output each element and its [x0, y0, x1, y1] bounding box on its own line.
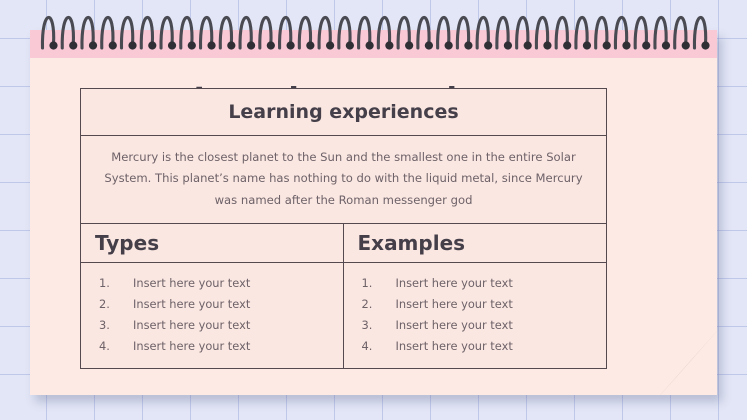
- list-item-text: Insert here your text: [133, 294, 333, 315]
- types-list: 1. Insert here your text 2. Insert here …: [81, 263, 344, 368]
- list-item: 2. Insert here your text: [362, 294, 597, 315]
- list-item-number: 3.: [362, 315, 396, 336]
- list-item: 1. Insert here your text: [99, 273, 333, 294]
- slide-canvas: Learning experiences Learning experience…: [0, 0, 747, 420]
- list-item-text: Insert here your text: [396, 336, 597, 357]
- table-header-label: Learning experiences: [228, 101, 458, 123]
- list-item-text: Insert here your text: [396, 294, 597, 315]
- list-item: 1. Insert here your text: [362, 273, 597, 294]
- list-item-number: 2.: [99, 294, 133, 315]
- examples-list: 1. Insert here your text 2. Insert here …: [344, 263, 607, 368]
- content-table: Learning experiences Mercury is the clos…: [80, 88, 607, 369]
- list-item: 4. Insert here your text: [99, 336, 333, 357]
- list-item-text: Insert here your text: [396, 315, 597, 336]
- column-heading-examples: Examples: [344, 224, 607, 262]
- table-subheading-row: Types Examples: [81, 223, 606, 262]
- table-header-row: Learning experiences: [81, 89, 606, 135]
- list-item-number: 1.: [99, 273, 133, 294]
- pink-header-band: [30, 30, 717, 58]
- column-heading-examples-label: Examples: [358, 231, 466, 255]
- table-list-row: 1. Insert here your text 2. Insert here …: [81, 262, 606, 368]
- list-item-text: Insert here your text: [133, 336, 333, 357]
- column-heading-types: Types: [81, 224, 344, 262]
- list-item: 3. Insert here your text: [362, 315, 597, 336]
- list-item-text: Insert here your text: [133, 273, 333, 294]
- column-heading-types-label: Types: [95, 231, 159, 255]
- list-item-text: Insert here your text: [133, 315, 333, 336]
- table-paragraph-row: Mercury is the closest planet to the Sun…: [81, 135, 606, 223]
- list-item: 4. Insert here your text: [362, 336, 597, 357]
- paragraph-text: Mercury is the closest planet to the Sun…: [81, 136, 606, 223]
- list-item-number: 4.: [362, 336, 396, 357]
- list-item: 3. Insert here your text: [99, 315, 333, 336]
- list-item-number: 4.: [99, 336, 133, 357]
- list-item-number: 1.: [362, 273, 396, 294]
- list-item-number: 3.: [99, 315, 133, 336]
- list-item: 2. Insert here your text: [99, 294, 333, 315]
- list-item-text: Insert here your text: [396, 273, 597, 294]
- list-item-number: 2.: [362, 294, 396, 315]
